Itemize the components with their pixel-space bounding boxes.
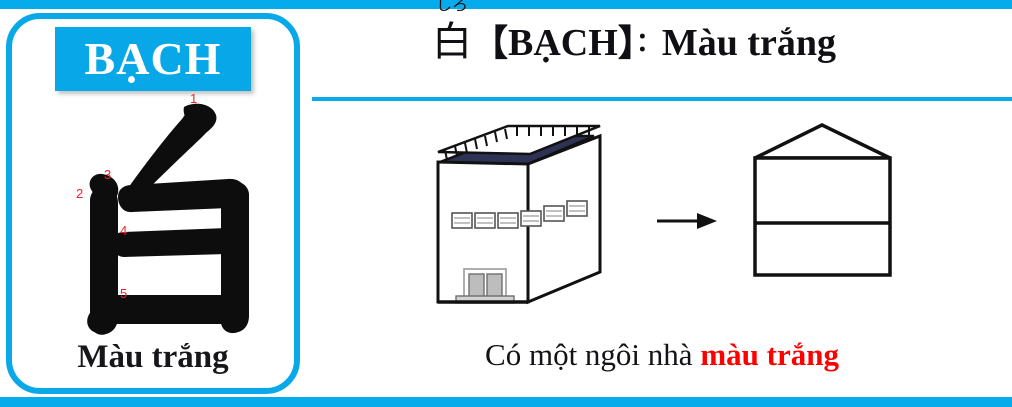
- bottom-accent-bar: [0, 397, 1012, 407]
- arrow-right-icon: [657, 213, 717, 229]
- definition-panel: しろ 白 【BẠCH】：Màu trắng: [312, 10, 1012, 397]
- headline: しろ 白 【BẠCH】：Màu trắng: [432, 22, 836, 62]
- example-caption: Có một ngôi nhà màu trắng: [312, 338, 1012, 372]
- bracket-open: 【: [472, 23, 508, 64]
- headline-kanji: 白: [432, 19, 472, 65]
- top-accent-bar: [0, 0, 1012, 9]
- reading-badge-label: BẠCH: [85, 36, 222, 82]
- stroke-number-2: 2: [76, 187, 83, 200]
- illustration-area: [312, 106, 1012, 336]
- caption-emphasis: màu trắng: [700, 337, 839, 372]
- panel-divider: [312, 97, 1012, 101]
- headline-sino-reading: BẠCH: [508, 22, 618, 64]
- stroke-number-3: 3: [104, 168, 111, 181]
- stroke-number-1: 1: [190, 92, 197, 105]
- headline-meaning: Màu trắng: [662, 22, 836, 64]
- house-outline-icon: [755, 125, 890, 275]
- white-building-icon: [438, 126, 600, 303]
- entrance-doors: [456, 269, 514, 303]
- stroke-number-4: 4: [120, 224, 127, 237]
- kanji-card: BẠCH: [6, 13, 300, 394]
- stroke-number-5: 5: [120, 287, 127, 300]
- kanji-with-furigana: しろ 白: [432, 22, 472, 62]
- illustration-svg: [312, 106, 1012, 336]
- kanji-glyph-svg: [32, 91, 282, 336]
- caption-prefix: Có một ngôi nhà: [485, 337, 700, 372]
- headline-row: しろ 白 【BẠCH】：Màu trắng: [312, 10, 1012, 98]
- flashcard-page: BẠCH: [0, 0, 1012, 407]
- headline-separator: ：: [636, 28, 662, 58]
- kanji-stroke-diagram: 1 2 3 4 5: [32, 91, 282, 336]
- bracket-close: 】: [618, 23, 636, 64]
- furigana: しろ: [436, 0, 468, 13]
- kanji-card-meaning: Màu trắng: [12, 339, 294, 376]
- reading-badge: BẠCH: [55, 27, 251, 91]
